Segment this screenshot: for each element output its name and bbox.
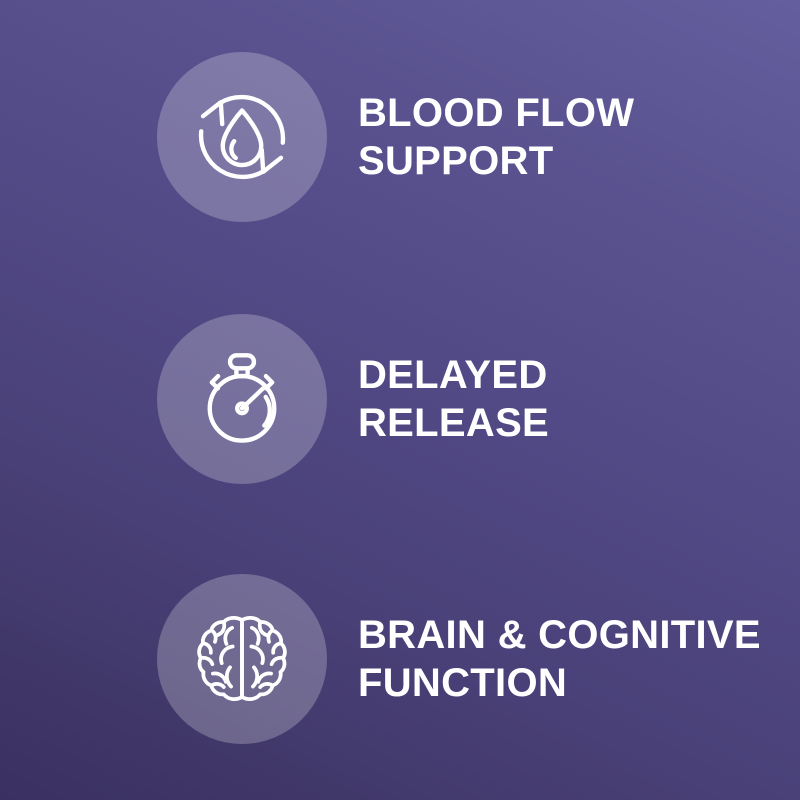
feature-row-brain-cognitive-function: Brain & Cognitive Function [0, 574, 800, 744]
brain-icon [190, 607, 294, 711]
benefits-infographic: Blood Flow Support [0, 0, 800, 800]
feature-row-delayed-release: Delayed Release [0, 314, 800, 484]
feature-label-blood-flow-support: Blood Flow Support [358, 89, 800, 185]
icon-badge-blood-flow-support [157, 52, 327, 222]
icon-badge-delayed-release [157, 314, 327, 484]
feature-label-brain-cognitive-function: Brain & Cognitive Function [358, 611, 800, 707]
feature-row-blood-flow-support: Blood Flow Support [0, 52, 800, 222]
stopwatch-icon [190, 347, 294, 451]
icon-badge-brain-cognitive-function [157, 574, 327, 744]
feature-label-delayed-release: Delayed Release [358, 351, 800, 447]
water-drop-recycle-icon [190, 85, 294, 189]
